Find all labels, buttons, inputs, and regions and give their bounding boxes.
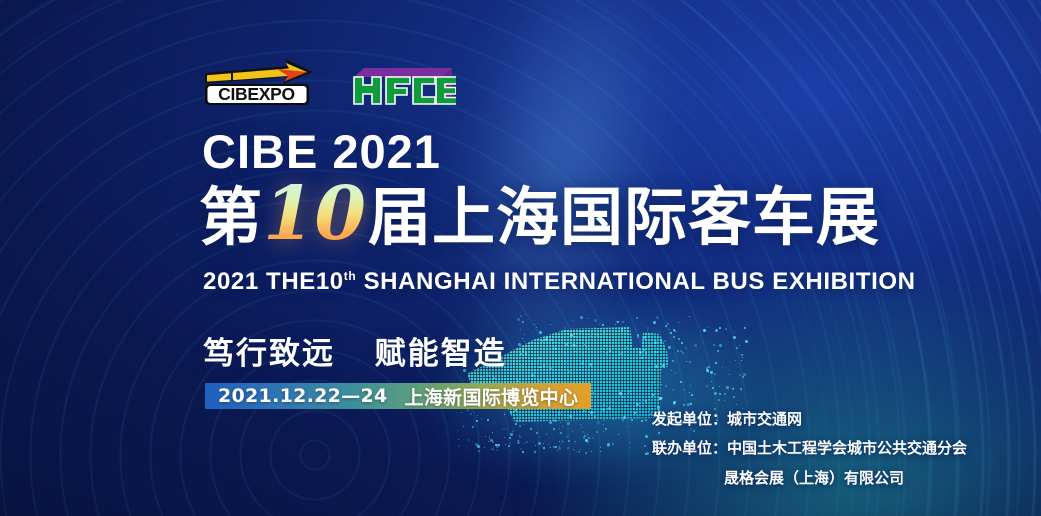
event-date: 2021.12.22—24 [218, 385, 388, 407]
english-suffix: SHANGHAI INTERNATIONAL BUS EXHIBITION [356, 268, 915, 295]
date-venue-bar: 2021.12.22—24 上海新国际博览中心 [205, 383, 591, 409]
organizer-block: 发起单位：城市交通网 联办单位：中国土木工程学会城市公共交通分会 晟格会展（上海… [652, 405, 967, 493]
initiator-value: 城市交通网 [727, 410, 802, 428]
slogan-part-2: 赋能智造 [375, 336, 507, 372]
headline-chinese: 第 10 届上海国际客车展 [199, 180, 880, 254]
initiator-line: 发起单位：城市交通网 [652, 405, 967, 434]
headline-edition-number: 10 [263, 177, 366, 251]
coorganizer-line: 联办单位：中国土木工程学会城市公共交通分会 [652, 434, 967, 463]
event-venue: 上海新国际博览中心 [405, 383, 579, 410]
headline-english: 2021 THE10th SHANGHAI INTERNATIONAL BUS … [203, 268, 916, 296]
logo-row: CIBEXPO [203, 57, 456, 107]
hfce-logo [348, 63, 456, 107]
coorganizer-value-2: 晟格会展（上海）有限公司 [724, 469, 904, 487]
english-ordinal-suffix: th [344, 269, 357, 283]
coorganizer-label: 联办单位： [652, 439, 727, 457]
slogan-part-1: 笃行致远 [203, 336, 335, 372]
coorganizer-value: 中国土木工程学会城市公共交通分会 [727, 439, 967, 457]
svg-text:CIBEXPO: CIBEXPO [218, 84, 295, 104]
cib-expo-logo: CIBEXPO [203, 57, 316, 107]
coorganizer-line-2: 晟格会展（上海）有限公司 [652, 464, 967, 493]
slogan: 笃行致远 赋能智造 [203, 328, 507, 373]
english-prefix: 2021 THE10 [203, 268, 344, 295]
initiator-label: 发起单位： [652, 410, 727, 428]
event-poster: CIBEXPO CIBE 2021 第 10 届上海国际客车展 2021 THE… [0, 0, 1041, 516]
headline-suffix: 届上海国际客车展 [368, 186, 880, 249]
headline-prefix: 第 [199, 186, 263, 249]
